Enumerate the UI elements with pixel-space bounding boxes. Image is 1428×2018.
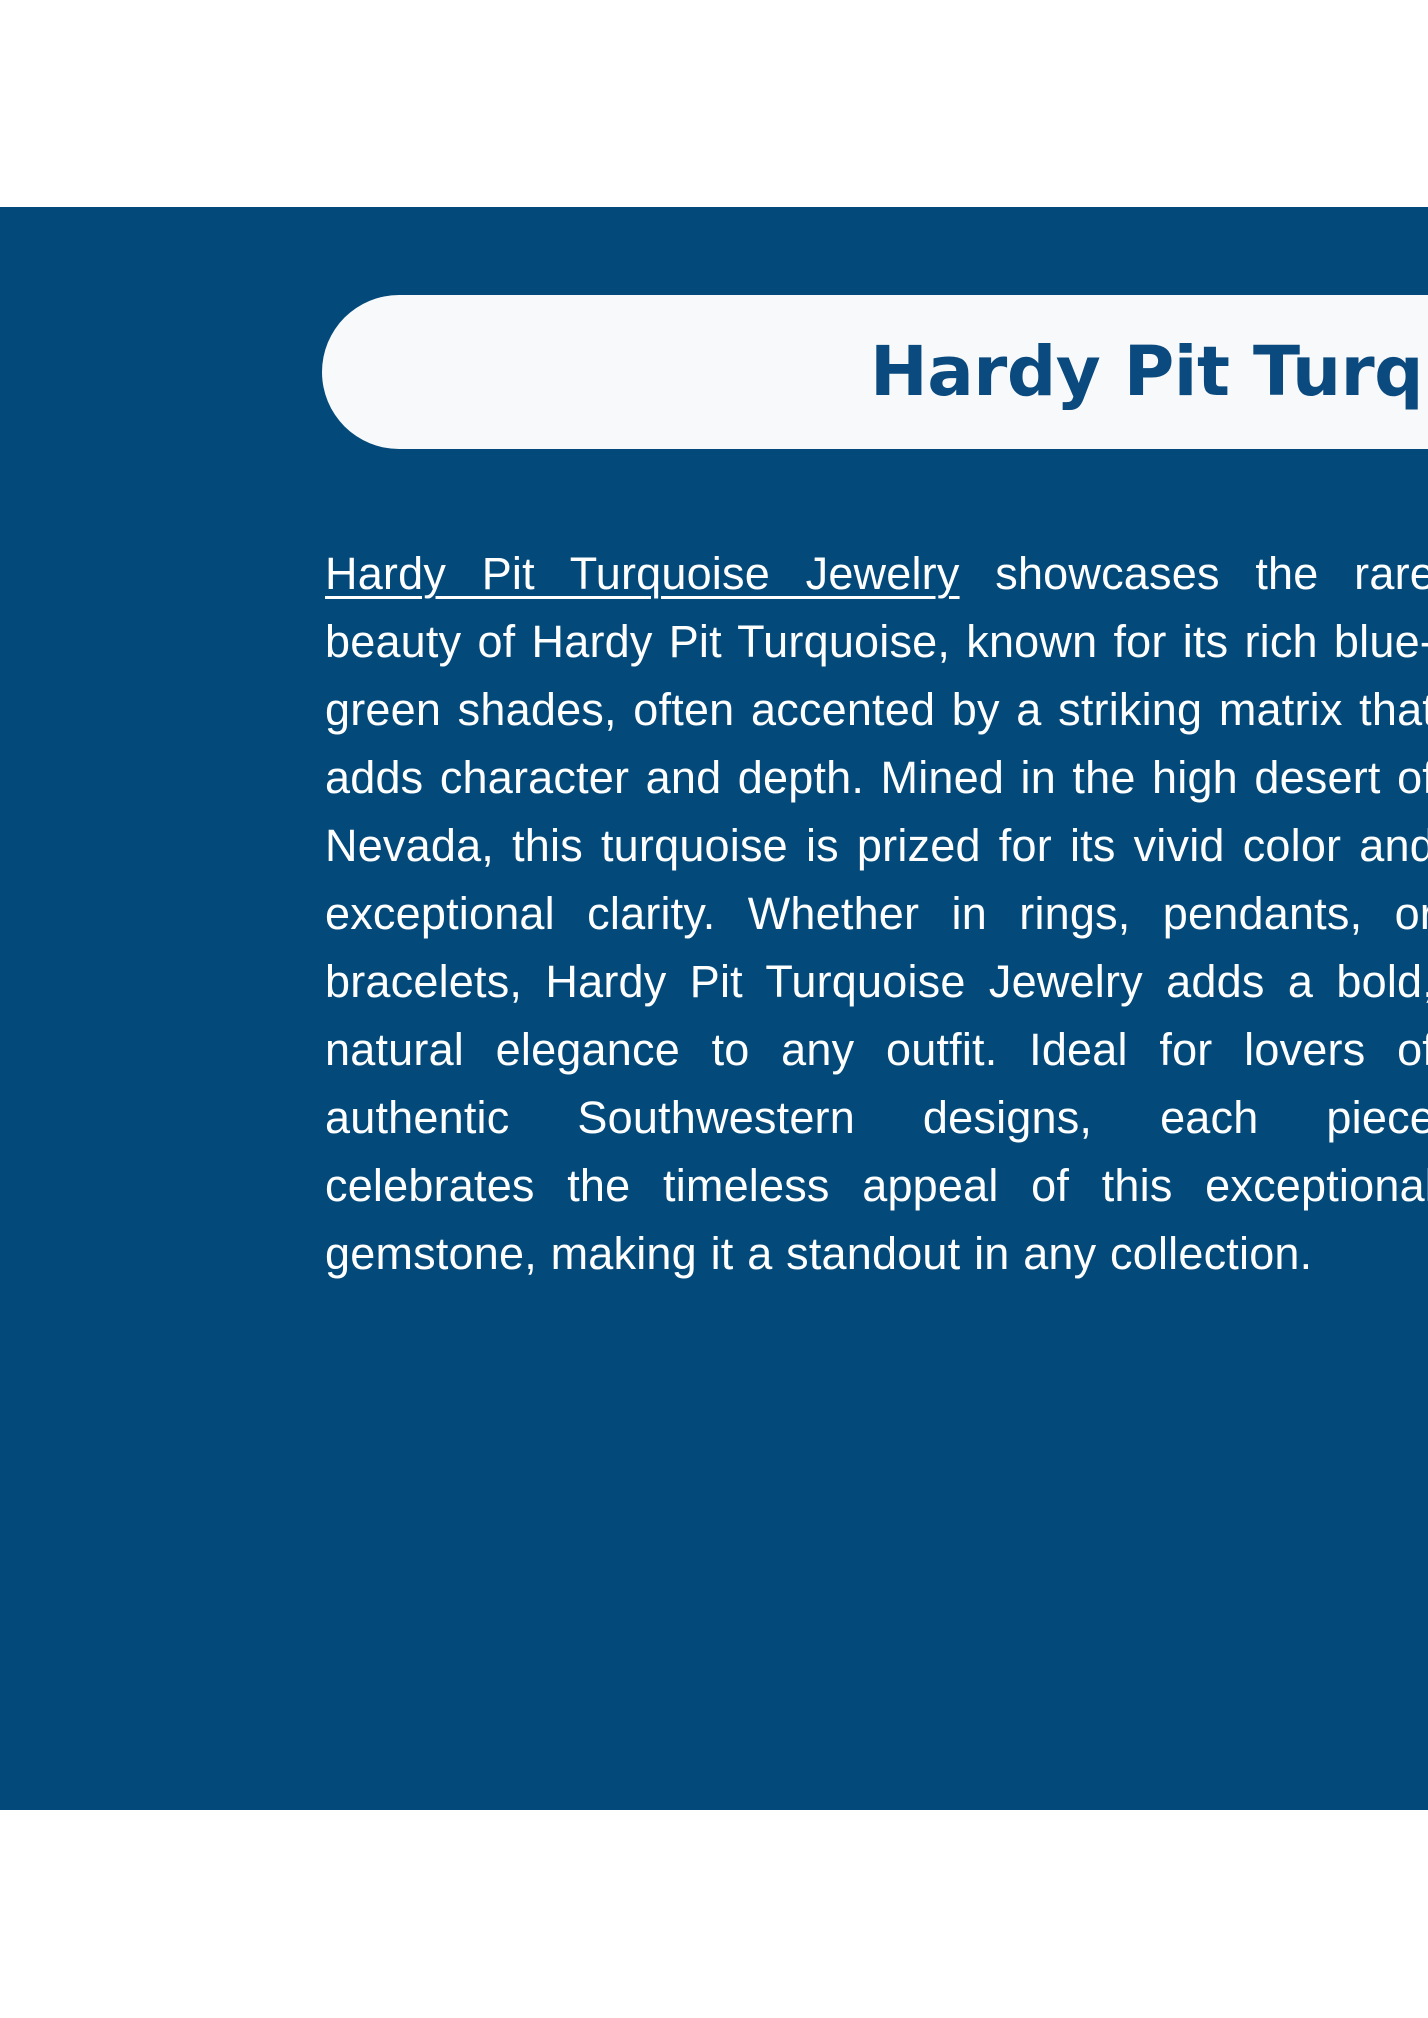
- page-title: Hardy Pit Turquoise Jewelry: [870, 338, 1428, 407]
- article-body: Hardy Pit Turquoise Jewelry showcases th…: [325, 540, 1428, 1288]
- article-panel: Hardy Pit Turquoise Jewelry Hardy Pit Tu…: [0, 207, 1428, 1810]
- title-pill: Hardy Pit Turquoise Jewelry: [322, 295, 1428, 449]
- article-body-text: showcases the rare beauty of Hardy Pit T…: [325, 548, 1428, 1279]
- hardy-pit-turquoise-jewelry-link[interactable]: Hardy Pit Turquoise Jewelry: [325, 548, 960, 599]
- page-canvas: Hardy Pit Turquoise Jewelry Hardy Pit Tu…: [0, 0, 1428, 2018]
